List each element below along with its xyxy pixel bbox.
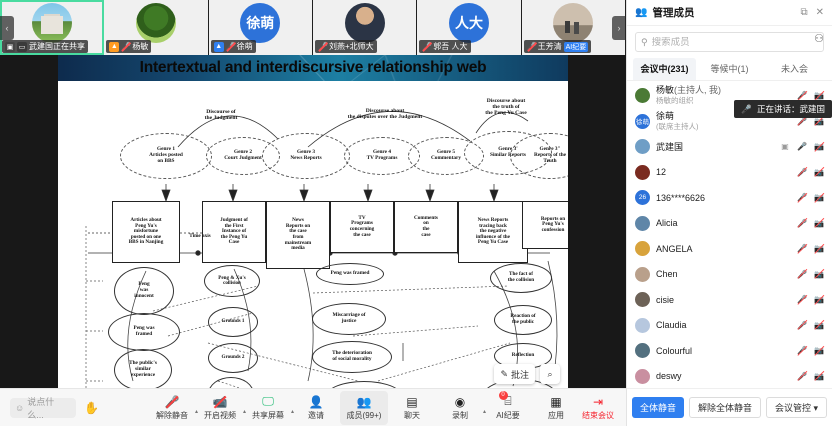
participant-name: Alicia: [656, 218, 678, 228]
grounds-node: Peng & Xu'scollision: [204, 265, 260, 297]
mic-muted-icon: [121, 42, 130, 52]
process-box: TVProgramsconcerningthe case: [330, 201, 394, 253]
shared-slide: Intertextual and interdiscursive relatio…: [58, 55, 568, 388]
toolbar-label: AI纪要: [496, 410, 520, 421]
participant-name: cisie: [656, 295, 674, 305]
mic-muted-icon[interactable]: 🎤: [797, 192, 807, 203]
speaking-tooltip-text: 正在讲话：武建国: [757, 103, 825, 115]
toolbar-button[interactable]: ⌸0AI纪要: [484, 391, 532, 425]
video-tile[interactable]: 刘燕+北师大: [313, 0, 417, 55]
toolbar-icon: ▤: [406, 394, 417, 409]
topic-node: The deteriorationof social morality: [312, 341, 392, 373]
search-icon: ⚲: [641, 37, 648, 48]
camera-off-icon[interactable]: 📷: [814, 218, 824, 229]
toolbar-icon: 📹: [213, 394, 228, 409]
camera-off-icon[interactable]: 📷: [814, 345, 824, 356]
toolbar-label: 聊天: [404, 410, 420, 421]
toolbar-icon: 👤: [309, 394, 324, 409]
panel-tabs: 会议中(231)等候中(1)未入会: [627, 56, 832, 81]
time-axis-label: Time axis: [182, 231, 218, 243]
toolbar-icon: ▦: [550, 394, 561, 409]
participant-row[interactable]: 26136****6626🎤📷: [627, 185, 832, 211]
avatar: [635, 241, 650, 256]
search-container: ⚲: [627, 26, 832, 56]
avatar: [635, 267, 650, 282]
close-icon[interactable]: ✕: [816, 7, 824, 18]
grounds-node: Grounds 2: [208, 343, 258, 373]
toolbar-label: 录制: [452, 410, 468, 421]
participants-list[interactable]: 杨敏(主持人, 我)杨敏的组织🎤📷徐萌徐萌(联席主持人)🎤📷武建国▣🎤📷12🎤📷…: [627, 81, 832, 388]
panel-title: 管理成员: [652, 5, 694, 20]
genre-node: Genre 3News Reports: [262, 133, 350, 179]
ai-summary-badge: AI纪要: [564, 42, 589, 52]
avatar: 徐萌: [240, 3, 280, 43]
video-tile[interactable]: 人大郭吾 人大: [417, 0, 521, 55]
toolbar-label: 共享屏幕: [252, 410, 284, 421]
participant-subtitle: 杨敏的组织: [656, 95, 721, 106]
relationship-web-diagram: Discourse ofthe JudgmentDiscourse aboutt…: [58, 81, 568, 388]
panel-footer: 全体静音 解除全体静音 会议管控 ▾: [627, 388, 832, 426]
toolbar-label: 开启视频: [204, 410, 236, 421]
mic-muted-icon: [226, 42, 235, 52]
mute-all-button[interactable]: 全体静音: [632, 397, 684, 418]
toolbar-icon: ◉: [455, 394, 465, 409]
tile-nameplate: ▲徐萌: [211, 40, 256, 53]
toolbar-button[interactable]: 🖵共享屏幕▴: [244, 391, 292, 425]
tile-nameplate: 刘燕+北师大: [315, 40, 377, 53]
tile-name-label: 刘燕+北师大: [329, 41, 374, 52]
process-box: Reports onPeng Yu'sconfession: [522, 201, 568, 249]
avatar: [553, 3, 593, 43]
slide-header: Intertextual and interdiscursive relatio…: [58, 55, 568, 81]
participant-name: 12: [656, 167, 666, 177]
panel-header: 👥 管理成员 ⧉ ✕: [627, 0, 832, 26]
camera-off-icon[interactable]: 📷: [814, 192, 824, 203]
participant-status-icons: ▣🎤📷: [780, 141, 824, 152]
shared-screen-area[interactable]: Intertextual and interdiscursive relatio…: [0, 55, 626, 388]
tile-nameplate: 郭吾 人大: [419, 40, 470, 53]
screen-share-icon: ▣: [780, 141, 790, 152]
participant-name: 徐萌: [656, 111, 699, 121]
toolbar-icon: 👥: [357, 394, 372, 409]
participant-name: deswy: [656, 371, 682, 381]
annotate-button[interactable]: ✎ 批注: [494, 364, 535, 384]
participant-status-icons: 🎤📷: [797, 371, 824, 382]
participant-row[interactable]: cisie🎤📷: [627, 287, 832, 313]
video-tile[interactable]: ▲杨敏: [104, 0, 208, 55]
video-tile[interactable]: 徐萌▲徐萌: [209, 0, 313, 55]
process-box: NewsReports onthe casefrommainstreammedi…: [266, 201, 330, 269]
avatar: [32, 3, 72, 43]
end-meeting-button[interactable]: ⇥ 结束会议: [580, 391, 616, 425]
toolbar-icon: 🖵: [262, 394, 274, 409]
participant-row[interactable]: Colourful🎤📷: [627, 338, 832, 364]
avatar: [345, 3, 385, 43]
participant-filmstrip: ▣▭武建国正在共享▲杨敏徐萌▲徐萌刘燕+北师大人大郭吾 人大王芳清AI纪要: [0, 0, 626, 55]
avatar: 徐萌: [635, 114, 650, 129]
participant-row[interactable]: ANGELA🎤📷: [627, 236, 832, 262]
participant-name: ANGELA: [656, 244, 693, 254]
unmute-all-button[interactable]: 解除全体静音: [689, 397, 761, 418]
smile-icon: ☺: [15, 403, 24, 413]
speaking-tooltip: 🎤 正在讲话：武建国: [734, 100, 832, 118]
tile-nameplate: ▣▭武建国正在共享: [2, 40, 88, 53]
topic-node: Miscarriage ofjustice: [312, 303, 386, 335]
people-icon: 👥: [635, 7, 647, 18]
mic-muted-icon: [527, 42, 536, 52]
process-box: Articles aboutPeng Yu'smisfortuneposted …: [112, 201, 180, 263]
avatar: [635, 292, 650, 307]
mic-active-icon: 🎤: [797, 141, 807, 152]
discourse-label: Discourse aboutthe truth ofthe Peng Yu C…: [462, 91, 550, 123]
toolbar-label: 成员(99+): [347, 410, 382, 421]
avatar: [635, 216, 650, 231]
panel-tab[interactable]: 会议中(231): [633, 58, 696, 80]
participant-row[interactable]: Claudia🎤📷: [627, 313, 832, 339]
pencil-icon: ✎: [500, 369, 508, 380]
end-meeting-label: 结束会议: [582, 410, 614, 421]
search-input[interactable]: [652, 37, 818, 48]
participant-subtitle: (联席主持人): [656, 121, 699, 132]
quick-chat-placeholder: 说点什么...: [27, 395, 70, 421]
participant-status-icons: 🎤📷: [797, 218, 824, 229]
participant-row[interactable]: 武建国▣🎤📷: [627, 134, 832, 160]
mic-muted-icon[interactable]: 🎤: [797, 294, 807, 305]
notification-badge: 0: [499, 391, 508, 400]
toolbar-label: 应用: [548, 410, 564, 421]
participant-name: Colourful: [656, 346, 692, 356]
zoom-meeting-window: ▣▭武建国正在共享▲杨敏徐萌▲徐萌刘燕+北师大人大郭吾 人大王芳清AI纪要 ‹ …: [0, 0, 832, 426]
host-badge-icon: ▲: [109, 42, 119, 52]
tile-name-label: 王芳清: [538, 41, 562, 52]
topic-node: Peng was framed: [316, 263, 384, 285]
avatar: [635, 343, 650, 358]
slide-title: Intertextual and interdiscursive relatio…: [58, 55, 568, 81]
camera-off-icon[interactable]: 📷: [814, 320, 824, 331]
discourse-label: Discourse ofthe Judgment: [178, 103, 264, 127]
toolbar-icon: 🎤: [165, 394, 180, 409]
toolbar-button[interactable]: 🎤解除静音▴: [148, 391, 196, 425]
meeting-stage: ▣▭武建国正在共享▲杨敏徐萌▲徐萌刘燕+北师大人大郭吾 人大王芳清AI纪要 ‹ …: [0, 0, 626, 426]
add-participant-icon[interactable]: ⚇: [814, 32, 824, 45]
discourse-label: Discourse aboutthe disputes over the Jud…: [301, 103, 469, 125]
search-box[interactable]: ⚲: [635, 32, 824, 52]
participant-name: Claudia: [656, 320, 687, 330]
participant-status-icons: 🎤📷: [797, 269, 824, 280]
grounds-node: Grounds 1: [208, 307, 258, 337]
avatar: [635, 318, 650, 333]
camera-off-icon[interactable]: 📷: [814, 269, 824, 280]
video-tile[interactable]: ▣▭武建国正在共享: [0, 0, 104, 55]
tile-name-label: 郭吾 人大: [433, 41, 467, 52]
camera-off-icon[interactable]: 📷: [814, 167, 824, 178]
participant-row[interactable]: deswy🎤📷: [627, 364, 832, 389]
tile-name-label: 武建国正在共享: [29, 41, 85, 52]
toolbar-button[interactable]: ▤聊天: [388, 391, 436, 425]
share-icon: ▣: [5, 42, 15, 52]
participant-status-icons: 🎤📷: [797, 243, 824, 254]
avatar: 26: [635, 190, 650, 205]
quick-chat-input[interactable]: ☺ 说点什么...: [10, 398, 76, 418]
mic-muted-icon[interactable]: 🎤: [797, 269, 807, 280]
tile-name-label: 杨敏: [132, 41, 148, 52]
speaking-mic-icon: 🎤: [741, 104, 752, 115]
tile-nameplate: 王芳清AI纪要: [524, 40, 592, 53]
claim-node: The public'ssimilarexperience: [114, 349, 172, 388]
toolbar-button[interactable]: 👤邀请: [292, 391, 340, 425]
filmstrip-prev-button[interactable]: ‹: [0, 16, 14, 40]
participant-name: 136****6626: [656, 193, 705, 203]
genre-node: Genre 1Articles postedon BBS: [120, 133, 212, 179]
mic-muted-icon: [318, 42, 327, 52]
avatar: [635, 139, 650, 154]
toolbar-icon: ⌸0: [504, 394, 511, 409]
cohost-badge-icon: ▲: [214, 42, 224, 52]
toolbar-items: 🎤解除静音▴📹开启视频▴🖵共享屏幕▴👤邀请👥成员(99+)▤聊天◉录制▴⌸0AI…: [148, 391, 580, 425]
toolbar-button[interactable]: 👥成员(99+): [340, 391, 388, 425]
mic-muted-icon[interactable]: 🎤: [797, 243, 807, 254]
toolbar-button[interactable]: ◉录制▴: [436, 391, 484, 425]
panel-tab[interactable]: 等候中(1): [698, 58, 761, 80]
video-tile[interactable]: 王芳清AI纪要: [522, 0, 626, 55]
tile-nameplate: ▲杨敏: [106, 40, 151, 53]
reaction-button[interactable]: ✋: [84, 398, 101, 418]
avatar: [635, 88, 650, 103]
tile-name-label: 徐萌: [237, 41, 253, 52]
meeting-toolbar: ☺ 说点什么... ✋ 🎤解除静音▴📹开启视频▴🖵共享屏幕▴👤邀请👥成员(99+…: [0, 388, 626, 426]
toolbar-button[interactable]: 📹开启视频▴: [196, 391, 244, 425]
participant-status-icons: 🎤📷: [797, 345, 824, 356]
panel-tab[interactable]: 未入会: [763, 58, 826, 80]
meeting-controls-button[interactable]: 会议管控 ▾: [766, 397, 827, 418]
mic-muted-icon[interactable]: 🎤: [797, 320, 807, 331]
participants-panel: 👥 管理成员 ⧉ ✕ ⚲ ⚇ 会议中(231)等候中(1)未入会 杨敏(主持人,…: [626, 0, 832, 426]
process-box: News Reportstracing backthe negativeinfl…: [458, 201, 528, 263]
magnifier-icon: ⌕: [547, 369, 552, 380]
toolbar-label: 解除静音: [156, 410, 188, 421]
filmstrip-next-button[interactable]: ›: [612, 16, 626, 40]
avatar: 人大: [449, 3, 489, 43]
camera-icon: ▭: [17, 42, 27, 52]
process-box: Commentsonthecase: [394, 201, 458, 253]
camera-off-icon[interactable]: 📷: [814, 294, 824, 305]
toolbar-label: 邀请: [308, 410, 324, 421]
camera-off-icon[interactable]: 📷: [814, 243, 824, 254]
participant-name: 杨敏(主持人, 我): [656, 85, 721, 95]
camera-off-icon[interactable]: 📷: [814, 141, 824, 152]
participant-status-icons: 🎤📷: [797, 192, 824, 203]
camera-off-icon[interactable]: 📷: [814, 371, 824, 382]
mic-muted-icon[interactable]: 🎤: [797, 345, 807, 356]
annotation-toolbar: ✎ 批注 ⌕: [494, 364, 560, 384]
participant-row[interactable]: Alicia🎤📷: [627, 211, 832, 237]
avatar: [635, 165, 650, 180]
toolbar-button[interactable]: ▦应用: [532, 391, 580, 425]
mic-muted-icon[interactable]: 🎤: [797, 167, 807, 178]
effect-node: Reaction ofthe public: [494, 305, 552, 335]
participant-status-icons: 🎤📷: [797, 294, 824, 305]
participant-row[interactable]: Chen🎤📷: [627, 262, 832, 288]
avatar: [635, 369, 650, 384]
zoom-view-button[interactable]: ⌕: [540, 364, 560, 384]
participant-row[interactable]: 12🎤📷: [627, 160, 832, 186]
claim-node: Peng wasframed: [108, 313, 180, 351]
avatar: [136, 3, 176, 43]
popout-icon[interactable]: ⧉: [800, 7, 807, 18]
participant-status-icons: 🎤📷: [797, 320, 824, 331]
exit-icon: ⇥: [593, 394, 603, 409]
mic-muted-icon: [422, 42, 431, 52]
participant-name: Chen: [656, 269, 678, 279]
participant-name: 武建国: [656, 142, 683, 152]
effect-node: The fact ofthe collision: [490, 263, 552, 293]
claim-node: Pengwasinnocent: [114, 267, 174, 315]
mic-muted-icon[interactable]: 🎤: [797, 371, 807, 382]
participant-status-icons: 🎤📷: [797, 167, 824, 178]
mic-muted-icon[interactable]: 🎤: [797, 218, 807, 229]
annotate-label: 批注: [511, 368, 529, 381]
